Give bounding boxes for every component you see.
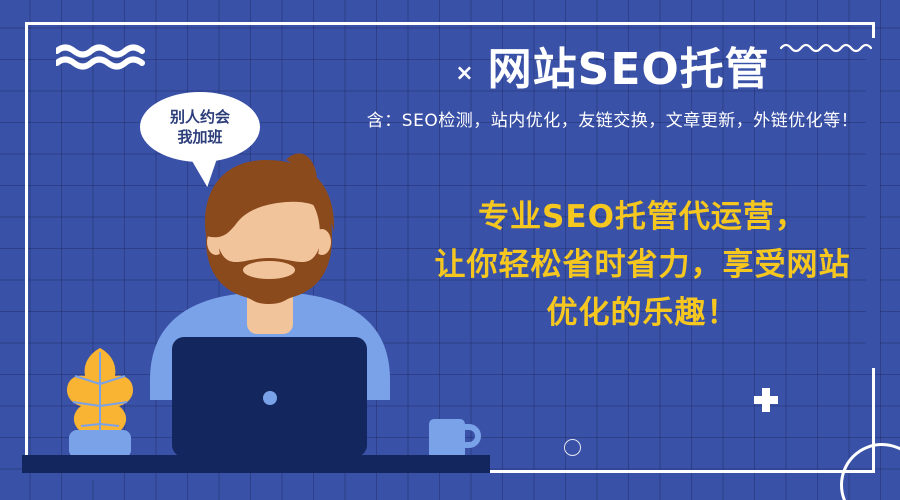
laptop-icon xyxy=(172,337,367,457)
circle-outline-icon xyxy=(564,439,581,456)
speech-bubble-line-1: 别人约会 xyxy=(170,107,230,127)
speech-bubble-line-2: 我加班 xyxy=(177,127,222,147)
seo-promo-banner: 别人约会 我加班 × 网站SEO托管 含：SEO检测，站内优化，友链交换，文章更… xyxy=(0,0,900,500)
laptop-logo-dot xyxy=(263,391,277,405)
speech-bubble: 别人约会 我加班 xyxy=(140,92,260,162)
desk-surface xyxy=(22,455,490,473)
plus-icon xyxy=(754,388,778,412)
potted-plant-icon xyxy=(55,340,145,460)
